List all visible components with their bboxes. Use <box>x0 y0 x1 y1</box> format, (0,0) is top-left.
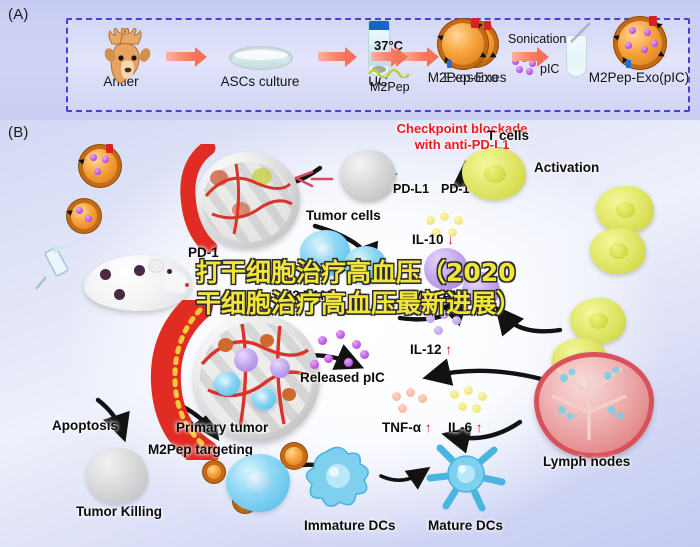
caption-t-cells: T cells <box>487 128 529 143</box>
caption-pd-l1: PD-L1 <box>393 182 429 196</box>
caption-mature-dcs: Mature DCs <box>428 518 503 533</box>
apoptotic-cell-icon <box>86 448 148 504</box>
tnf-a-trend-arrow: ↑ <box>425 420 432 435</box>
label-il-10: IL-10 ↓ <box>412 232 454 247</box>
exosome-peptide-icon <box>437 18 489 70</box>
step-m2pep-exo: M2Pep-Exo <box>415 14 511 85</box>
step-antler: Antler <box>78 20 164 89</box>
primary-tumor-icon <box>150 300 320 460</box>
step-final-caption: M2Pep-Exo(pIC) <box>585 70 693 85</box>
targeting-exosome-2 <box>202 460 226 484</box>
caption-released-pic: Released pIC <box>300 370 385 385</box>
tumor-vessel-icon <box>178 144 220 252</box>
caption-metastatic-tumor: PD-1 <box>188 245 219 260</box>
t-cell-icon-3 <box>590 228 646 274</box>
label-tnf-a: TNF-α ↑ <box>382 420 432 435</box>
m2-tam-cell-1 <box>300 230 350 276</box>
step-m2pepexo-caption: M2Pep-Exo <box>415 70 511 85</box>
m1-tam-cell-1 <box>424 248 468 290</box>
petri-dish-icon <box>229 46 293 70</box>
il-6-trend-arrow: ↑ <box>476 420 483 435</box>
caption-tumor-cells: Tumor cells <box>306 208 381 223</box>
t-cell-icon-2 <box>596 186 654 234</box>
caption-m1-tams: M1 TAMs <box>412 288 470 303</box>
annotation-sonication: Sonication <box>508 32 566 46</box>
caption-activation: Activation <box>534 160 599 175</box>
step-asc-caption: ASCs culture <box>205 74 315 89</box>
m2-tam-cell-2 <box>344 246 386 284</box>
mature-dc-icon <box>424 438 508 514</box>
arrow-antler-to-asc <box>166 52 196 61</box>
step-final-product: M2Pep-Exo(pIC) <box>585 12 693 85</box>
label-il-6: IL-6 ↑ <box>448 420 483 435</box>
t-cell-icon-1 <box>462 148 526 200</box>
label-il-12: IL-12 ↑ <box>410 342 452 357</box>
step-asc-culture: ASCs culture <box>205 20 315 89</box>
caption-primary-tumor: Primary tumor <box>176 420 268 435</box>
panel-a: (A) Antler ASCs culture <box>0 0 700 120</box>
panel-b: (B) <box>0 120 700 547</box>
caption-lymph-nodes: Lymph nodes <box>543 454 630 469</box>
annotation-m2pep: M2Pep <box>370 80 410 94</box>
caption-immature-dcs: Immature DCs <box>304 518 396 533</box>
exosome-particle-1 <box>78 144 122 188</box>
exosome-particle-2 <box>66 198 102 234</box>
arrow-m2pepexo-to-final <box>512 52 538 61</box>
caption-m2pep-targeting: M2Pep targeting <box>148 442 253 457</box>
lymph-nodes-icon <box>534 352 654 458</box>
caption-apoptosis: Apoptosis <box>52 418 118 433</box>
targeted-macrophage-icon <box>226 454 290 512</box>
panel-b-label: (B) <box>8 124 29 141</box>
il-12-trend-arrow: ↑ <box>445 342 452 357</box>
exosome-pic-icon <box>613 16 667 70</box>
caption-tumor-killing: Tumor Killing <box>76 504 162 519</box>
deer-icon <box>92 28 166 84</box>
immature-dc-icon <box>300 442 378 514</box>
arrow-exosomes-to-m2pepexo <box>371 52 397 61</box>
il-10-trend-arrow: ↓ <box>447 232 454 247</box>
figure-canvas: (A) Antler ASCs culture <box>0 0 700 547</box>
syringe-icon <box>34 245 80 293</box>
m2pep-wave-icon <box>368 66 412 78</box>
arrow-asc-to-uc <box>318 52 346 61</box>
tumor-cell-icon <box>340 150 396 202</box>
panel-a-label: (A) <box>8 6 29 23</box>
